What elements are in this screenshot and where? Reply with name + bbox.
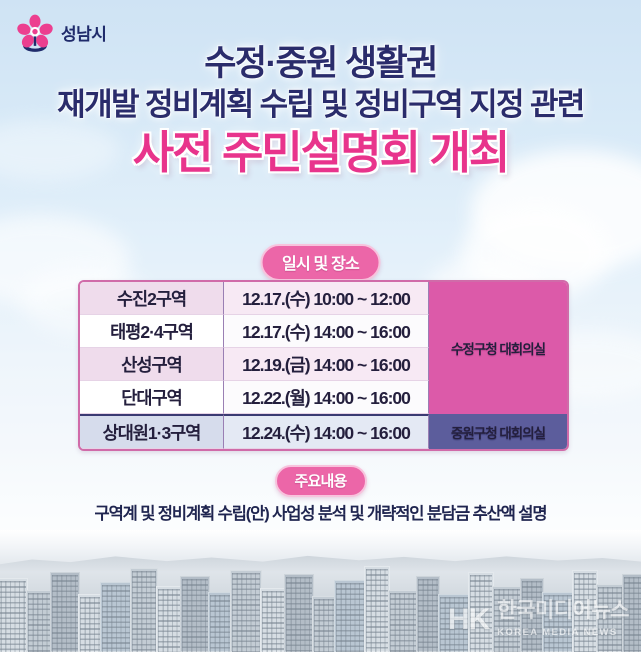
building xyxy=(364,566,390,652)
section-badge-when-where: 일시 및 장소 xyxy=(260,244,381,281)
title-line-2: 재개발 정비계획 수립 및 정비구역 지정 관련 xyxy=(0,86,641,123)
cell-venue: 수정구청 대회의실 xyxy=(429,282,567,414)
building xyxy=(438,594,470,652)
building xyxy=(180,576,210,652)
building xyxy=(622,574,641,652)
cell-area: 상대원1·3구역 xyxy=(80,414,224,449)
cell-venue: 중원구청 대회의실 xyxy=(429,414,567,449)
building xyxy=(26,590,52,652)
main-content-summary: 구역계 및 정비계획 수립(안) 사업성 분석 및 개략적인 분담금 추산액 설… xyxy=(0,500,641,524)
building xyxy=(284,574,314,652)
title-line-3: 사전 주민설명회 개최 xyxy=(0,127,641,179)
building xyxy=(230,570,262,652)
building xyxy=(542,592,574,652)
section-badge-main-content: 주요내용 xyxy=(274,465,366,497)
cell-area: 수진2구역 xyxy=(80,282,224,315)
cell-datetime: 12.19.(금) 14:00 ~ 16:00 xyxy=(224,348,429,381)
cell-area: 태평2·4구역 xyxy=(80,315,224,348)
building xyxy=(572,570,598,652)
title-line-1: 수정·중원 생활권 xyxy=(0,44,641,83)
table-row: 수진2구역 12.17.(수) 10:00 ~ 12:00 수정구청 대회의실 xyxy=(80,282,567,315)
building xyxy=(208,592,232,652)
building xyxy=(100,582,132,652)
building xyxy=(130,568,158,652)
building xyxy=(416,576,440,652)
cell-datetime: 12.24.(수) 14:00 ~ 16:00 xyxy=(224,414,429,449)
building xyxy=(260,588,286,652)
building xyxy=(156,586,182,652)
city-name-label: 성남시 xyxy=(61,26,106,43)
cell-datetime: 12.22.(월) 14:00 ~ 16:00 xyxy=(224,381,429,414)
building xyxy=(50,572,80,652)
building xyxy=(0,578,28,652)
building xyxy=(520,578,544,652)
building xyxy=(78,594,102,652)
schedule-table: 수진2구역 12.17.(수) 10:00 ~ 12:00 수정구청 대회의실 … xyxy=(78,280,569,451)
cell-datetime: 12.17.(수) 14:00 ~ 16:00 xyxy=(224,315,429,348)
table-row: 상대원1·3구역 12.24.(수) 14:00 ~ 16:00 중원구청 대회… xyxy=(80,414,567,449)
building xyxy=(492,586,522,652)
poster-canvas: 성남시 수정·중원 생활권 재개발 정비계획 수립 및 정비구역 지정 관련 사… xyxy=(0,0,641,652)
building xyxy=(468,572,494,652)
building xyxy=(388,590,418,652)
cell-area: 단대구역 xyxy=(80,381,224,414)
building xyxy=(334,580,366,652)
poster-title-block: 수정·중원 생활권 재개발 정비계획 수립 및 정비구역 지정 관련 사전 주민… xyxy=(0,44,641,179)
building xyxy=(312,596,336,652)
cityscape-photo xyxy=(0,530,641,652)
cell-datetime: 12.17.(수) 10:00 ~ 12:00 xyxy=(224,282,429,315)
cell-area: 산성구역 xyxy=(80,348,224,381)
